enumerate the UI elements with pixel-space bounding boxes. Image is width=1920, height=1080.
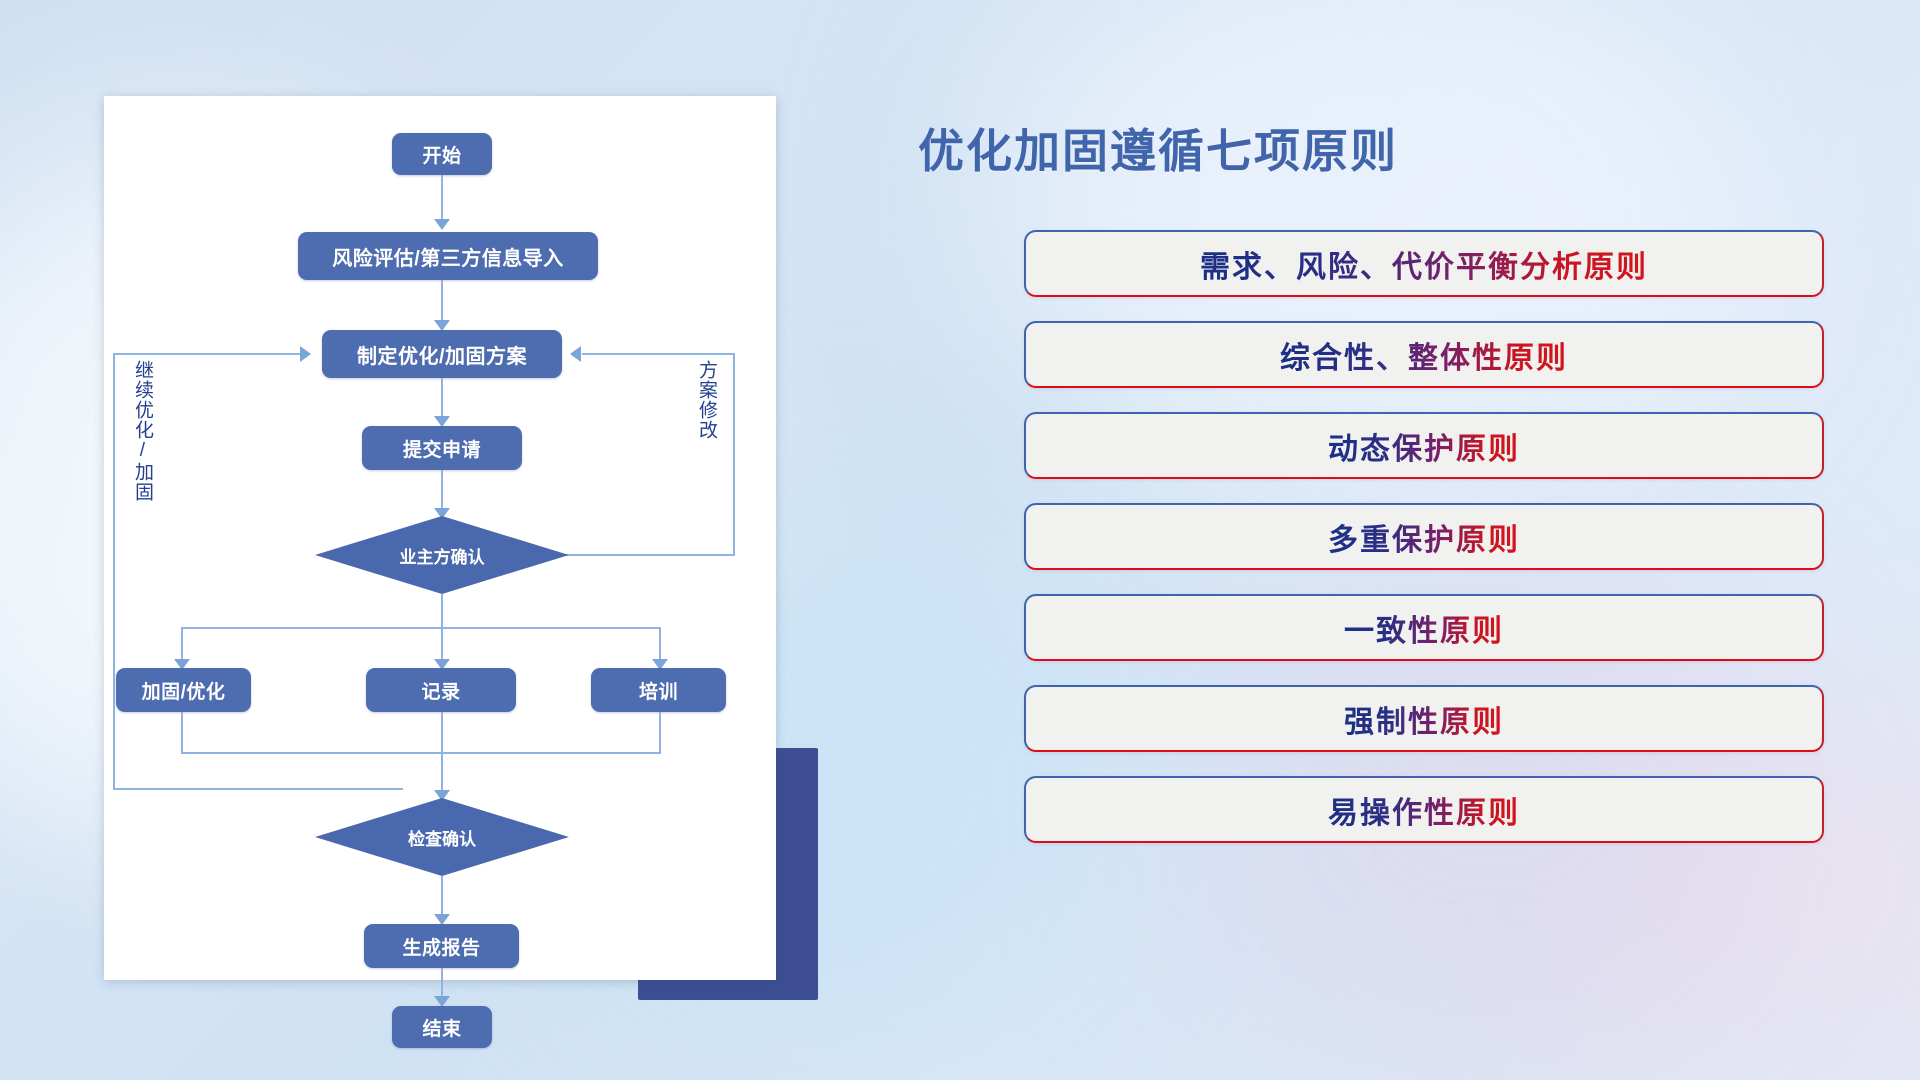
- flow-node-submit-application-label: 提交申请: [403, 435, 481, 462]
- merge-bottom-horizontal: [181, 752, 661, 754]
- merge-branch-left-down: [181, 712, 183, 754]
- edge-label-plan-revise: 方案修改: [696, 360, 716, 440]
- principle-item-6[interactable]: 强制性原则: [1024, 685, 1824, 752]
- flow-node-risk-assessment[interactable]: 风险评估/第三方信息导入: [298, 232, 598, 280]
- flow-node-record-label: 记录: [421, 677, 460, 704]
- principle-item-2-label: 综合性、整体性原则: [1280, 333, 1568, 377]
- connector-owner-to-bus: [441, 594, 443, 629]
- flow-node-end[interactable]: 结束: [392, 1006, 492, 1048]
- flow-node-training-label: 培训: [639, 677, 678, 704]
- flow-node-record[interactable]: 记录: [366, 668, 516, 712]
- principle-item-5-label: 一致性原则: [1344, 606, 1504, 650]
- principle-item-7-label: 易操作性原则: [1328, 788, 1520, 832]
- flow-node-make-plan[interactable]: 制定优化/加固方案: [322, 330, 562, 378]
- flow-node-start-label: 开始: [422, 141, 461, 168]
- flow-node-generate-report[interactable]: 生成报告: [364, 924, 519, 968]
- flowchart-canvas: 开始 风险评估/第三方信息导入 制定优化/加固方案 继续优化/加固 方案修改 提…: [104, 96, 776, 980]
- flow-decision-check-confirm-label: 检查确认: [408, 825, 476, 850]
- principle-item-3-label: 动态保护原则: [1328, 424, 1520, 468]
- merge-branch-right-down: [659, 712, 661, 754]
- principle-item-4-label: 多重保护原则: [1328, 515, 1520, 559]
- page-title: 优化加固遵循七项原则: [918, 115, 1398, 181]
- flow-node-risk-assessment-label: 风险评估/第三方信息导入: [332, 242, 564, 271]
- principle-item-3[interactable]: 动态保护原则: [1024, 412, 1824, 479]
- principle-item-7[interactable]: 易操作性原则: [1024, 776, 1824, 843]
- edge-label-continue-optimize: 继续优化/加固: [132, 360, 152, 502]
- flow-decision-owner-confirm-label: 业主方确认: [400, 543, 485, 568]
- principle-item-1[interactable]: 需求、风险、代价平衡分析原则: [1024, 230, 1824, 297]
- arrow-loop-left-into-plan: [300, 346, 311, 362]
- connector-start-to-risk: [441, 175, 443, 225]
- loop-left-bottom-horizontal: [113, 788, 403, 790]
- principles-list: 需求、风险、代价平衡分析原则 综合性、整体性原则 动态保护原则 多重保护原则 一…: [1024, 230, 1824, 867]
- flow-node-start[interactable]: 开始: [392, 133, 492, 175]
- principle-item-6-label: 强制性原则: [1344, 697, 1504, 741]
- principle-item-1-label: 需求、风险、代价平衡分析原则: [1200, 242, 1648, 286]
- principle-item-5[interactable]: 一致性原则: [1024, 594, 1824, 661]
- flow-node-reinforce-optimize-label: 加固/优化: [142, 677, 226, 704]
- arrow-loop-right-into-plan: [570, 346, 581, 362]
- merge-branch-center-down: [441, 712, 443, 796]
- loop-right-top-horizontal: [582, 353, 735, 355]
- flow-node-training[interactable]: 培训: [591, 668, 726, 712]
- bus-top-horizontal: [181, 627, 661, 629]
- loop-left-top-horizontal: [113, 353, 303, 355]
- flow-node-make-plan-label: 制定优化/加固方案: [357, 340, 527, 369]
- flow-decision-check-confirm[interactable]: 检查确认: [315, 798, 569, 876]
- principle-item-2[interactable]: 综合性、整体性原则: [1024, 321, 1824, 388]
- flow-node-generate-report-label: 生成报告: [402, 933, 480, 960]
- flowchart-card: 开始 风险评估/第三方信息导入 制定优化/加固方案 继续优化/加固 方案修改 提…: [104, 96, 776, 980]
- loop-right-vertical: [733, 353, 735, 556]
- loop-right-bottom-horizontal: [551, 554, 735, 556]
- flow-decision-owner-confirm[interactable]: 业主方确认: [315, 516, 569, 594]
- loop-left-vertical: [113, 353, 115, 790]
- flow-node-submit-application[interactable]: 提交申请: [362, 426, 522, 470]
- flow-node-end-label: 结束: [422, 1014, 461, 1041]
- arrow-start-to-risk: [434, 219, 450, 230]
- flow-node-reinforce-optimize[interactable]: 加固/优化: [116, 668, 251, 712]
- principle-item-4[interactable]: 多重保护原则: [1024, 503, 1824, 570]
